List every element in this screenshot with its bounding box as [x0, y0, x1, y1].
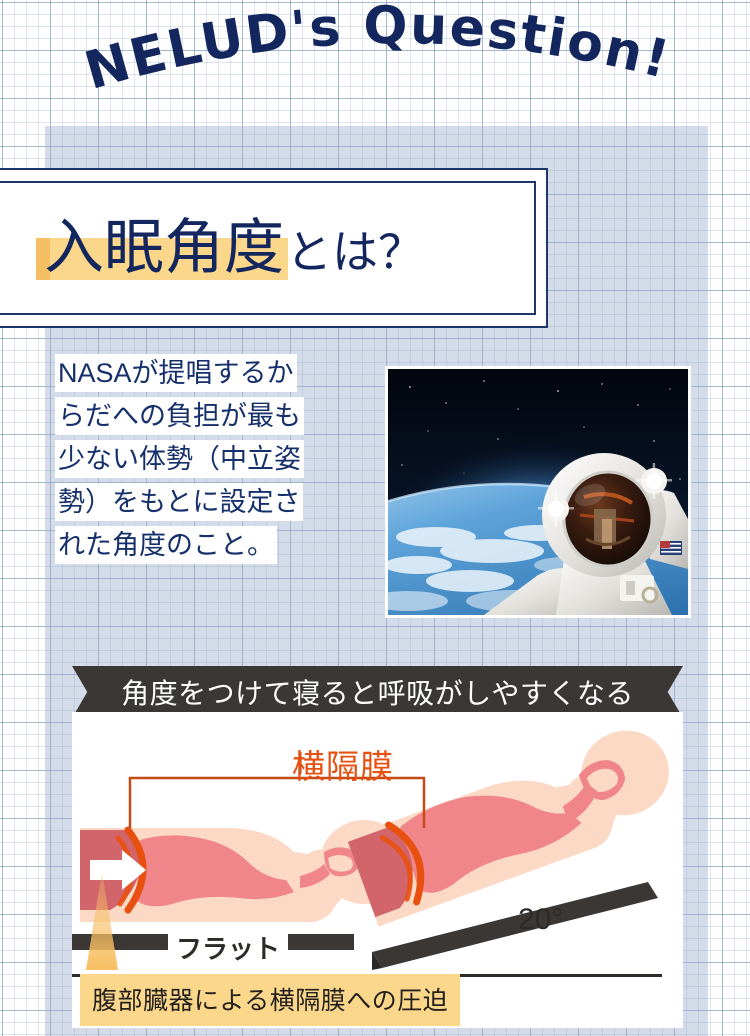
label-diaphragm: 横隔膜 — [292, 740, 394, 788]
title-tail: とは？ — [286, 227, 424, 278]
title-inner-rule-bottom — [0, 313, 536, 315]
astronaut-photo — [385, 366, 691, 618]
body-line: 少ない体勢（中立姿 — [58, 446, 376, 473]
section-banner: 角度をつけて寝ると呼吸がしやすくなる — [72, 666, 683, 718]
label-flat: フラット — [168, 929, 288, 966]
infographic-page: NELUD's Question! 入眠角度とは？ NASAが提唱するか らだへ… — [0, 0, 750, 1036]
title-highlight: 入眠角度 — [42, 218, 286, 278]
body-paragraph: NASAが提唱するか らだへの負担が最も 少ない体勢（中立姿 勢）をもとに設定さ… — [58, 360, 376, 575]
title-card: 入眠角度とは？ — [0, 168, 548, 328]
label-angle: 20° — [518, 903, 563, 937]
inclined-figure — [344, 718, 683, 977]
body-line: れた角度のこと。 — [58, 532, 376, 559]
body-line: 勢）をもとに設定さ — [58, 489, 376, 516]
title-inner-rule-right — [534, 181, 536, 315]
title-inner-rule-top — [0, 181, 536, 183]
banner-label: 角度をつけて寝ると呼吸がしやすくなる — [72, 666, 683, 718]
arc-title-text: NELUD's Question! — [78, 0, 676, 102]
body-line: らだへの負担が最も — [58, 403, 376, 430]
body-line: NASAが提唱するか — [58, 360, 376, 387]
page-title: 入眠角度とは？ — [42, 218, 424, 278]
header-arc-title: NELUD's Question! — [0, 0, 750, 130]
compression-note: 腹部臓器による横隔膜への圧迫 — [80, 974, 460, 1026]
